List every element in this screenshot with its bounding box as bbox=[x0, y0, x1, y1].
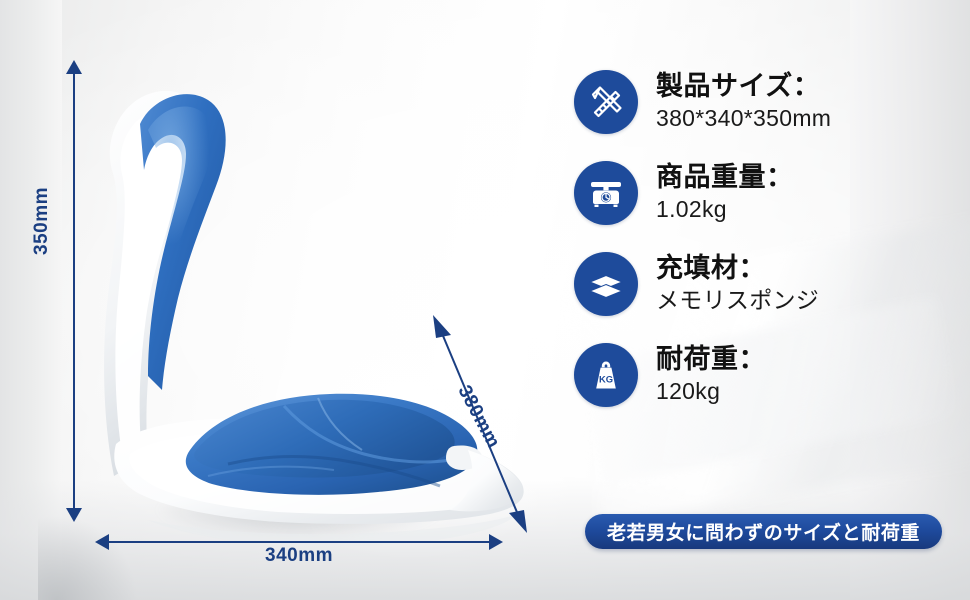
spec-item-product-size: 製品サイズ： 380*340*350mm bbox=[574, 70, 964, 134]
spec-text-product-size: 製品サイズ： 380*340*350mm bbox=[656, 70, 831, 133]
ruler-pencil-icon bbox=[574, 70, 638, 134]
layers-icon bbox=[574, 252, 638, 316]
spec-value-product-size: 380*340*350mm bbox=[656, 104, 831, 133]
dimension-label-height: 350mm bbox=[31, 187, 53, 255]
spec-title-filling-material: 充填材： bbox=[656, 253, 819, 283]
spec-title-item-weight: 商品重量： bbox=[656, 162, 794, 192]
spec-value-filling-material: メモリスポンジ bbox=[656, 286, 819, 315]
spec-item-load-capacity: KG 耐荷重： 120kg bbox=[574, 343, 964, 407]
spec-text-load-capacity: 耐荷重： 120kg bbox=[656, 343, 766, 406]
dimension-label-width: 340mm bbox=[265, 545, 333, 567]
spec-value-item-weight: 1.02kg bbox=[656, 195, 794, 224]
spec-value-load-capacity: 120kg bbox=[656, 377, 766, 406]
spec-item-filling-material: 充填材： メモリスポンジ bbox=[574, 252, 964, 316]
spec-text-filling-material: 充填材： メモリスポンジ bbox=[656, 252, 819, 315]
infographic-canvas: 350mm 340mm 380mm bbox=[0, 0, 970, 600]
feature-banner-text: 老若男女に問わずのサイズと耐荷重 bbox=[607, 518, 920, 545]
spec-title-product-size: 製品サイズ： bbox=[656, 71, 831, 101]
spec-text-item-weight: 商品重量： 1.02kg bbox=[656, 161, 794, 224]
spec-list: 製品サイズ： 380*340*350mm bbox=[574, 70, 964, 434]
spec-title-load-capacity: 耐荷重： bbox=[656, 344, 766, 374]
kitchen-scale-icon bbox=[574, 161, 638, 225]
arrow-head-down-icon bbox=[66, 508, 82, 522]
spec-item-item-weight: 商品重量： 1.02kg bbox=[574, 161, 964, 225]
dimension-line-vertical bbox=[73, 72, 75, 512]
weight-icon-unit-label: KG bbox=[599, 374, 613, 385]
feature-banner: 老若男女に問わずのサイズと耐荷重 bbox=[585, 514, 942, 549]
weight-kg-icon: KG bbox=[574, 343, 638, 407]
